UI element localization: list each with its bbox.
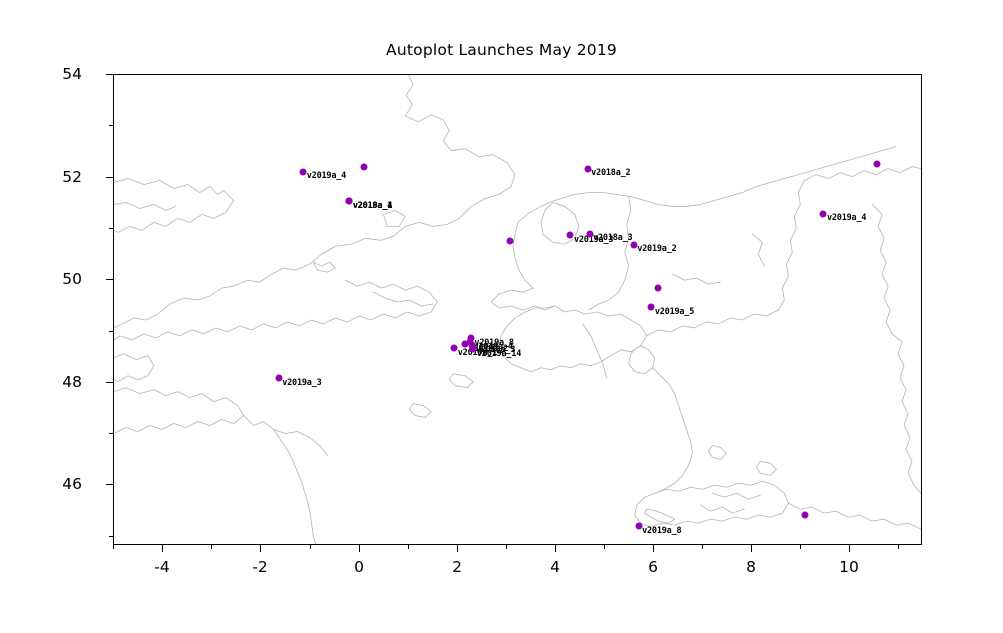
data-point-label: v2018a_3 [593,233,632,243]
data-point[interactable] [275,375,282,382]
data-point[interactable] [451,345,458,352]
y-tick-minor-51 [109,228,113,229]
y-tick-48 [106,382,113,383]
data-point[interactable] [467,335,474,342]
data-point[interactable] [361,163,368,170]
data-point[interactable] [300,168,307,175]
data-point-label: v2019a_8 [642,526,681,536]
y-tick-label-54: 54 [62,65,82,83]
coastline-paths [114,75,921,544]
x-tick-8 [751,545,752,552]
data-point-label: v2019a_4 [353,201,392,211]
x-tick-minor-3 [506,545,507,549]
y-tick-label-48: 48 [62,373,82,391]
data-point[interactable] [346,198,353,205]
x-tick-minor-m1 [310,545,311,549]
page-title: Autoplot Launches May 2019 [0,41,1003,59]
data-point-label: v2019a_14 [477,349,521,359]
x-tick-label-m4: -4 [154,558,169,576]
x-tick-0 [359,545,360,552]
data-point[interactable] [655,284,662,291]
data-point-label: v2019a_5 [655,307,694,317]
data-point[interactable] [567,232,574,239]
x-tick-label-4: 4 [550,558,560,576]
data-point[interactable] [470,346,477,353]
x-tick-m4 [162,545,163,552]
y-tick-52 [106,177,113,178]
x-tick-6 [653,545,654,552]
data-point[interactable] [820,210,827,217]
data-point-label: v2019a_4 [307,171,346,181]
x-tick-minor-7 [702,545,703,549]
x-tick-minor-m5 [113,545,114,549]
y-tick-54 [106,74,113,75]
x-tick-m2 [260,545,261,552]
figure-canvas: Autoplot Launches May 2019 [0,0,1003,633]
map-geography-layer [114,75,921,544]
y-tick-label-50: 50 [62,270,82,288]
x-tick-label-0: 0 [354,558,364,576]
plot-axes-area [113,74,922,545]
data-point[interactable] [635,523,642,530]
data-point[interactable] [584,165,591,172]
y-tick-50 [106,279,113,280]
data-point[interactable] [873,161,880,168]
data-point[interactable] [630,241,637,248]
x-tick-10 [849,545,850,552]
data-point[interactable] [506,237,513,244]
x-tick-minor-11 [898,545,899,549]
x-tick-minor-m3 [211,545,212,549]
x-tick-label-2: 2 [452,558,462,576]
y-tick-minor-53 [109,125,113,126]
x-tick-label-10: 10 [839,558,859,576]
y-tick-46 [106,484,113,485]
data-point-label: v2018a_2 [591,168,630,178]
x-tick-minor-5 [604,545,605,549]
x-tick-label-m2: -2 [252,558,267,576]
y-tick-label-52: 52 [62,168,82,186]
data-point-label: v2019a_3 [282,378,321,388]
data-point[interactable] [648,304,655,311]
data-point-label: v2019a_2 [637,244,676,254]
x-tick-4 [555,545,556,552]
y-tick-label-46: 46 [62,475,82,493]
x-tick-label-8: 8 [746,558,756,576]
x-tick-label-6: 6 [648,558,658,576]
x-tick-minor-9 [800,545,801,549]
x-tick-minor-1 [408,545,409,549]
x-tick-2 [457,545,458,552]
data-point[interactable] [586,230,593,237]
y-tick-minor-49 [109,331,113,332]
data-point[interactable] [802,512,809,519]
data-point-label: v2019a_4 [827,213,866,223]
y-tick-minor-45 [109,536,113,537]
y-tick-minor-47 [109,433,113,434]
